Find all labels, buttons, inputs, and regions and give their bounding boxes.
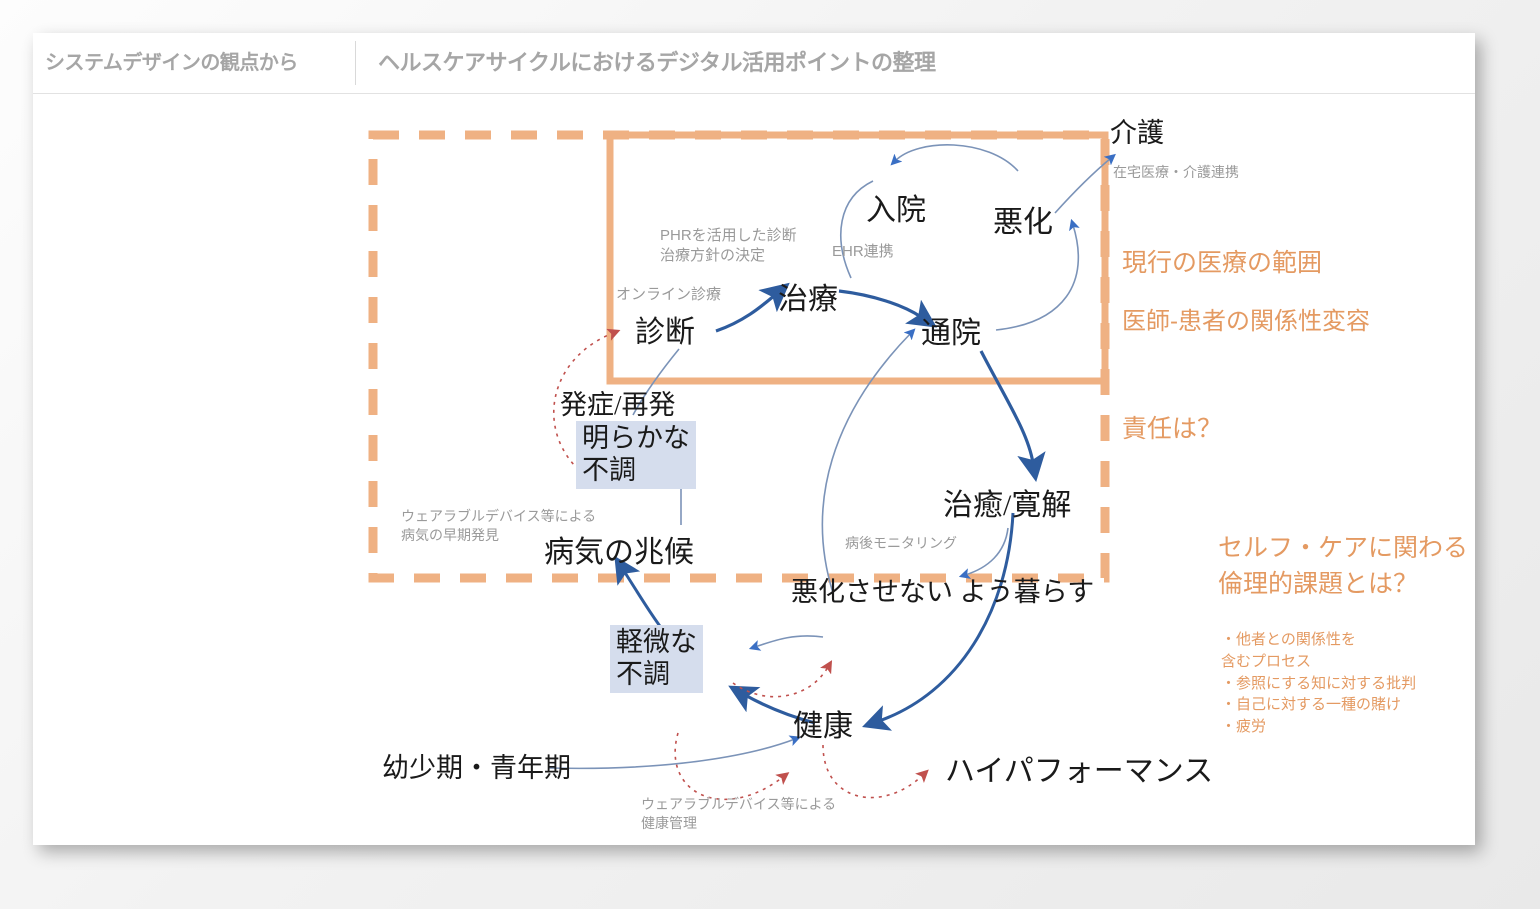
node-akka: 悪化 <box>993 197 1053 241</box>
node-high-performance: ハイパフォーマンス <box>945 746 1213 790</box>
node-shindan: 診断 <box>635 307 695 351</box>
annotation-sekinin: 責任は？ <box>1122 411 1222 447</box>
note-phr: PHRを活用した診断 治療方針の決定 <box>660 226 797 267</box>
screenshot-stage: システムデザインの観点から ヘルスケアサイクルにおけるデジタル活用ポイントの整理 <box>0 0 1540 909</box>
node-akka-sasenai: 悪化させない よう暮らす <box>791 576 1094 609</box>
note-wearable-early: ウェアラブルデバイス等による 病気の早期発見 <box>401 507 596 545</box>
node-chiryo: 治療 <box>778 274 838 318</box>
arrow-shindan-to-chiryo <box>716 295 775 331</box>
curve-youshouki-to-kenko <box>549 739 795 768</box>
note-wearable-health: ウェアラブルデバイス等による 健康管理 <box>641 795 836 833</box>
dotted-kenko-to-highperf <box>823 745 923 798</box>
node-youshouki: 幼少期・青年期 <box>382 746 571 785</box>
note-online: オンライン診療 <box>616 285 721 305</box>
annotation-ishi-kanja: 医師-患者の関係性変容 <box>1122 305 1370 339</box>
node-kaigo: 介護 <box>1110 111 1164 150</box>
note-zaitaku: 在宅医療・介護連携 <box>1113 163 1239 182</box>
node-tsuin: 通院 <box>921 308 981 352</box>
arrow-chiryo-to-tsuin <box>839 291 921 317</box>
dotted-wearable-health-loop <box>675 733 783 799</box>
curve-nyuin-top-arc <box>895 145 1018 171</box>
arrow-tsuin-to-chiyu <box>981 351 1033 463</box>
node-nyuin: 入院 <box>866 185 926 229</box>
node-chiyu-kankai: 治癒/寛解 <box>943 480 1071 524</box>
note-ehr: EHR連携 <box>832 242 894 262</box>
annotation-genko: 現行の医療の範囲 <box>1122 245 1322 281</box>
slide-sheet: システムデザインの観点から ヘルスケアサイクルにおけるデジタル活用ポイントの整理 <box>33 33 1475 845</box>
curve-kurasu-to-tsuin <box>822 333 911 593</box>
annotation-bullets: ・他者との関係性を 含むプロセス ・参照にする知に対する批判 ・自己に対する一種… <box>1221 629 1416 738</box>
annotation-self-care-title: セルフ・ケアに関わる 倫理的課題とは？ <box>1218 530 1468 603</box>
curve-kurasu-to-keibi <box>755 636 823 647</box>
dotted-keibi-to-kurasu <box>733 667 828 697</box>
node-kenko: 健康 <box>793 701 853 745</box>
curve-byougo-monitoring <box>965 528 1008 575</box>
node-hassho-saihatsu: 発症/再発 <box>560 383 676 422</box>
node-keibi-fucho: 軽微な 不調 <box>610 625 703 693</box>
node-akiraka-fucho: 明らかな 不調 <box>576 421 696 489</box>
note-byougo-monitoring: 病後モニタリング <box>845 534 957 553</box>
